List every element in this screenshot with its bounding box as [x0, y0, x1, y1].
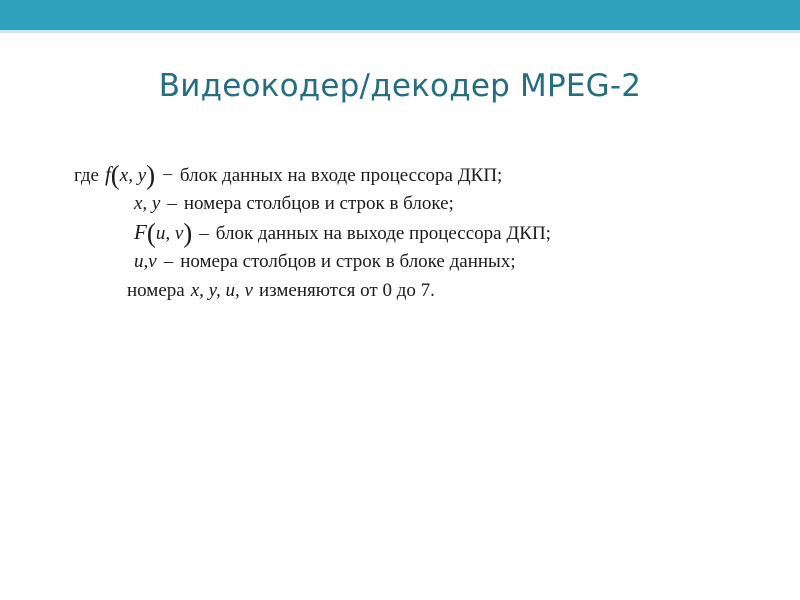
legend-line-5-description: изменяются от 0 до 7.	[259, 280, 435, 301]
legend-line-4: u,v–номера столбцов и строк в блоке данн…	[74, 247, 714, 276]
legend-line-3-description: блок данных на выходе процессора ДКП;	[216, 223, 551, 244]
legend-line-5-args: x, y, u, v	[191, 280, 253, 301]
legend-line-1-paren-close: )	[146, 160, 155, 190]
slide-canvas: Видеокодер/декодер MPEG-2 гдеf(x, y)−бло…	[0, 0, 800, 600]
legend-line-4-description: номера столбцов и строк в блоке данных;	[180, 251, 515, 272]
legend-line-2: x, y–номера столбцов и строк в блоке;	[74, 189, 714, 218]
top-accent-band	[0, 0, 800, 30]
legend-line-3: F(u, v)–блок данных на выходе процессора…	[74, 218, 714, 247]
legend-line-2-args: x, y	[134, 193, 160, 214]
legend-line-1: гдеf(x, y)−блок данных на входе процессо…	[74, 160, 714, 189]
page-title: Видеокодер/декодер MPEG-2	[0, 68, 800, 104]
legend-line-1-prefix: где	[74, 165, 99, 186]
legend-line-5: номераx, y, u, vизменяются от 0 до 7.	[74, 276, 714, 305]
legend-line-1-args: x, y	[120, 165, 146, 186]
legend-line-1-symbol: f	[105, 162, 111, 186]
legend-line-2-description: номера столбцов и строк в блоке;	[184, 193, 454, 214]
legend-line-3-separator: –	[198, 223, 210, 244]
legend-line-1-description: блок данных на входе процессора ДКП;	[180, 165, 502, 186]
legend-line-3-symbol: F	[134, 220, 147, 244]
legend-line-1-paren-open: (	[111, 160, 120, 190]
legend-line-3-paren-close: )	[183, 218, 192, 248]
formula-legend-block: гдеf(x, y)−блок данных на входе процессо…	[74, 160, 714, 305]
legend-line-4-separator: –	[163, 251, 175, 272]
top-accent-underline	[0, 30, 800, 33]
legend-line-1-separator: −	[161, 165, 174, 186]
legend-line-3-paren-open: (	[147, 218, 156, 248]
legend-line-2-separator: –	[166, 193, 178, 214]
legend-line-5-prefix: номера	[127, 280, 185, 301]
legend-line-3-args: u, v	[156, 223, 183, 244]
legend-line-4-args: u,v	[134, 251, 157, 272]
